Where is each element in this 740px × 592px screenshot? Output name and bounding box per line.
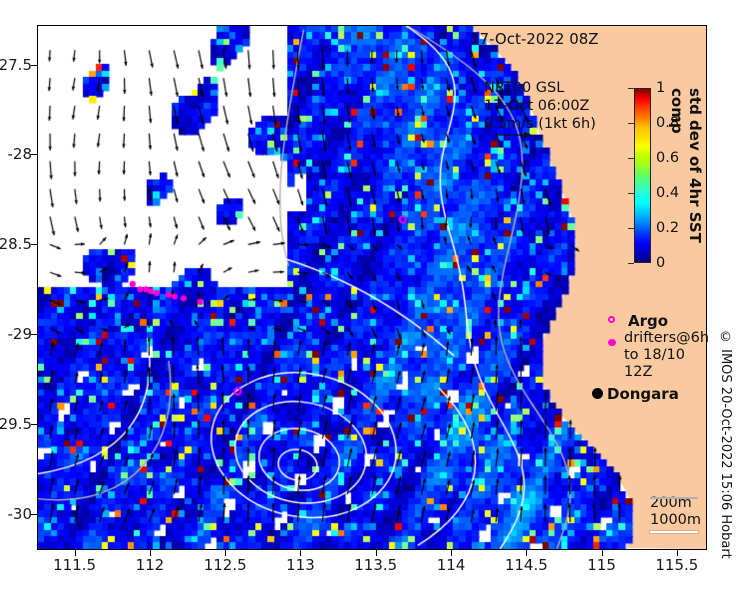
drifter-legend-line-1: drifters@6h <box>624 330 709 347</box>
source-annotation: NRT00 GSL 17-Oct 06:00Z 0.5m/s (1kt 6h) <box>484 79 596 133</box>
x-tick-label-2: 112.5 <box>190 556 260 574</box>
colorbar-tick-mark <box>628 228 634 229</box>
argo-legend-label: Argo <box>628 312 668 330</box>
depth-1000m-label: 1000m <box>650 512 701 529</box>
colorbar-gradient <box>634 88 651 263</box>
colorbar-tick-label-4: 0.8 <box>656 115 679 131</box>
y-tick-label-2: -28.5 <box>0 235 32 253</box>
x-tick-label-8: 115.5 <box>642 556 712 574</box>
colorbar-tick-mark <box>628 193 634 194</box>
sst-std-dev-heatmap <box>38 26 706 549</box>
x-tick-label-3: 113 <box>265 556 335 574</box>
drifter-marker-icon <box>608 339 616 346</box>
drifter-legend-label: drifters@6h to 18/10 12Z <box>624 330 709 381</box>
x-tick-label-5: 114 <box>416 556 486 574</box>
source-line-2: 17-Oct 06:00Z <box>484 97 596 115</box>
colorbar-tick-label-0: 0 <box>656 255 665 271</box>
colorbar-tick-label-5: 1 <box>656 80 665 96</box>
x-tick-label-0: 111.5 <box>40 556 110 574</box>
drifter-legend-line-2: to 18/10 12Z <box>624 347 709 381</box>
dongara-place-label: Dongara <box>607 385 679 403</box>
colorbar-tick-mark <box>628 158 634 159</box>
colorbar-tick-mark <box>628 88 634 89</box>
colorbar <box>634 88 651 263</box>
depth-1000m-line <box>650 531 698 533</box>
y-tick-label-5: -30 <box>0 505 32 523</box>
y-tick-label-1: -28 <box>0 145 32 163</box>
source-line-1: NRT00 GSL <box>484 79 596 97</box>
y-tick-label-3: -29 <box>0 325 32 343</box>
colorbar-tick-mark <box>628 263 634 264</box>
depth-200m-line <box>650 497 698 499</box>
map-date-title: 17-Oct-2022 08Z <box>470 30 599 48</box>
colorbar-tick-label-1: 0.2 <box>656 220 679 236</box>
x-tick-label-6: 114.5 <box>491 556 561 574</box>
colorbar-tick-mark <box>628 123 634 124</box>
map-plot-area <box>37 25 707 550</box>
velocity-scale-arrow-icon <box>498 129 532 141</box>
x-tick-label-4: 113.5 <box>341 556 411 574</box>
x-tick-label-7: 115 <box>567 556 637 574</box>
y-tick-label-4: -29.5 <box>0 415 32 433</box>
copyright-text: © IMOS 20-Oct-2022 15:06 Hobart <box>718 330 733 559</box>
dongara-marker-icon <box>592 388 603 399</box>
y-tick-label-0: -27.5 <box>0 56 32 74</box>
x-tick-label-1: 112 <box>115 556 185 574</box>
colorbar-tick-label-2: 0.4 <box>656 185 679 201</box>
colorbar-tick-label-3: 0.6 <box>656 150 679 166</box>
depth-scale-legend: 200m 1000m <box>650 495 701 529</box>
argo-marker-icon <box>608 316 615 323</box>
